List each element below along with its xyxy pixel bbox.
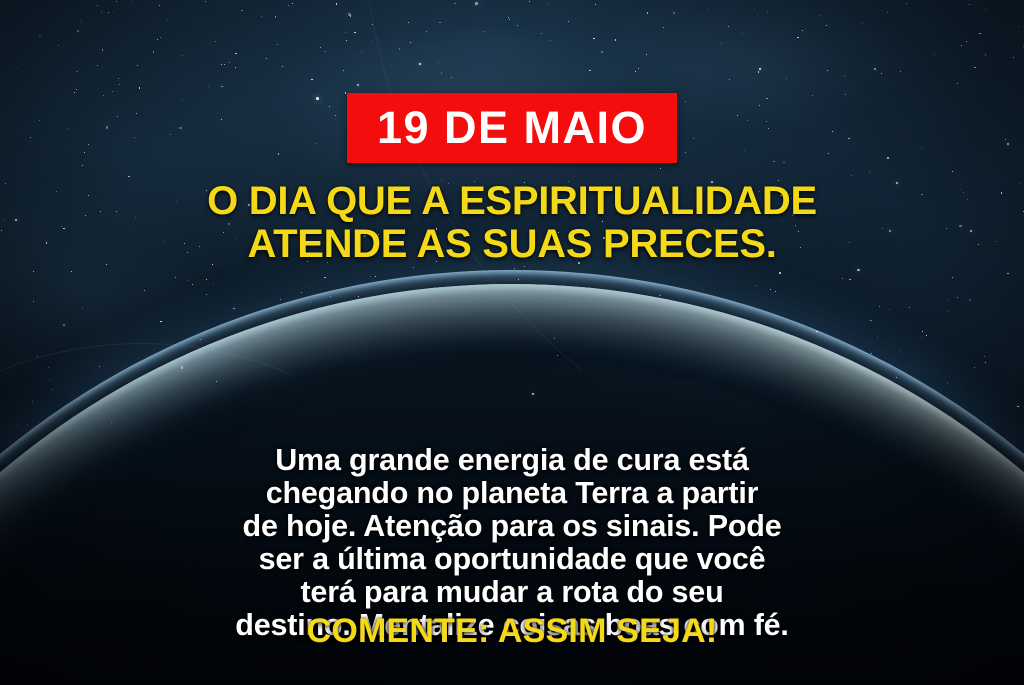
body-line-5: terá para mudar a rota do seu (72, 576, 952, 609)
poster-content: 19 DE MAIO O DIA QUE A ESPIRITUALIDADE A… (0, 0, 1024, 685)
body-line-1: Uma grande energia de cura está (72, 444, 952, 477)
body-line-2: chegando no planeta Terra a partir (72, 477, 952, 510)
body-line-3: de hoje. Atenção para os sinais. Pode (72, 510, 952, 543)
body-line-4: ser a última oportunidade que você (72, 543, 952, 576)
call-to-action-text: COMENTE: ASSIM SEJA! (0, 612, 1024, 651)
headline: O DIA QUE A ESPIRITUALIDADE ATENDE AS SU… (37, 180, 987, 266)
poster-canvas: 19 DE MAIO O DIA QUE A ESPIRITUALIDADE A… (0, 0, 1024, 685)
date-badge: 19 DE MAIO (347, 93, 677, 163)
headline-line-1: O DIA QUE A ESPIRITUALIDADE (37, 180, 987, 223)
headline-line-2: ATENDE AS SUAS PRECES. (37, 223, 987, 266)
